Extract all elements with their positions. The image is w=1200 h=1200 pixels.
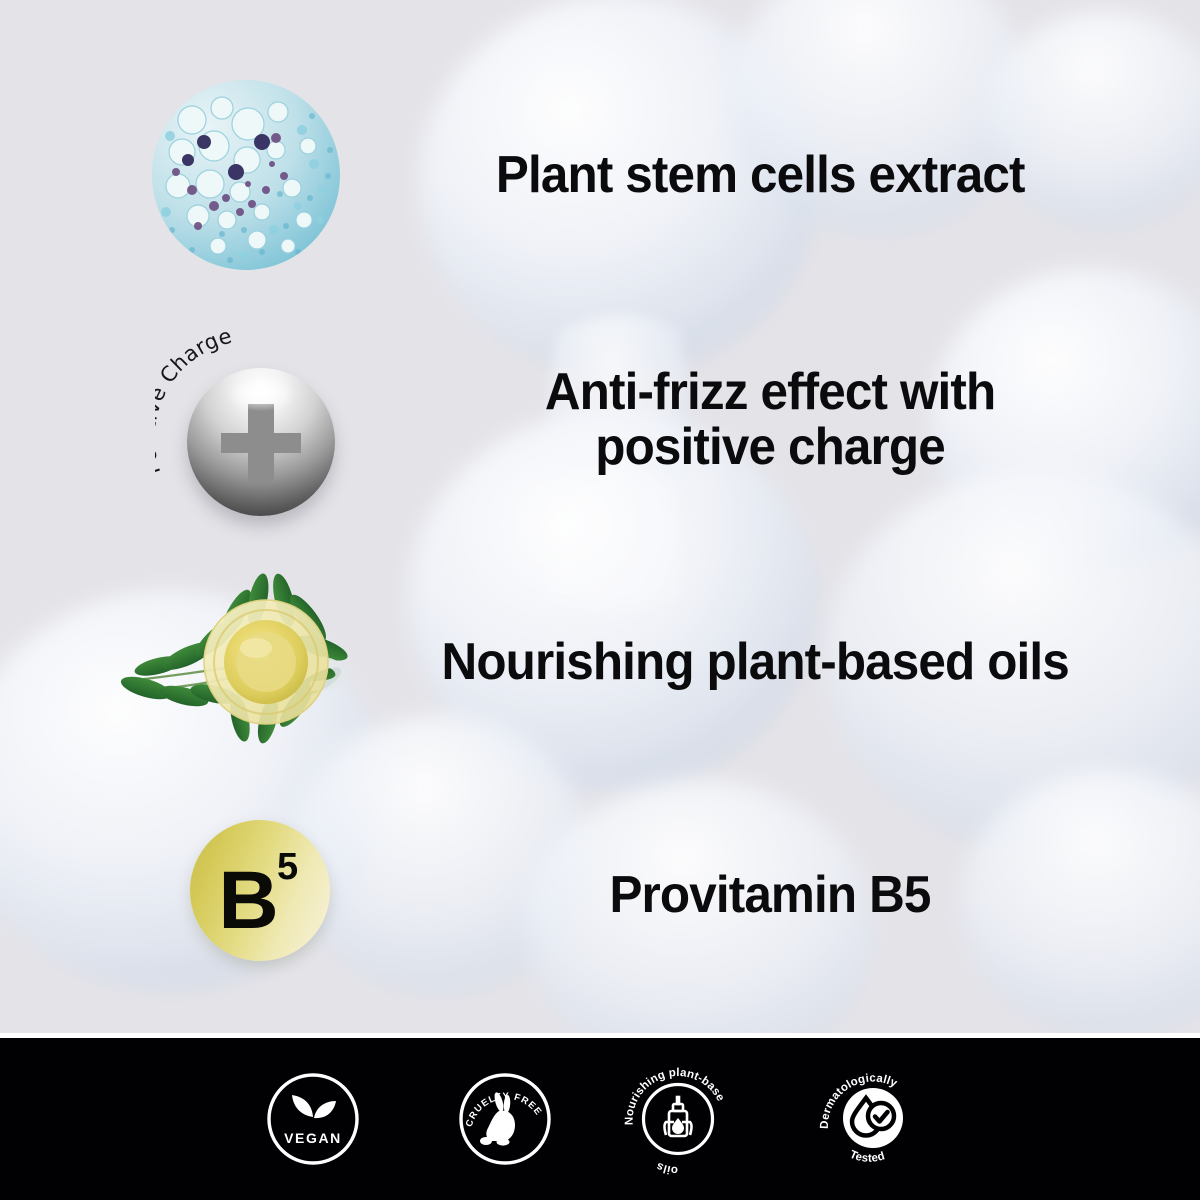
feature-label-anti-frizz: Anti-frizz effect with positive charge [545,365,995,473]
infographic-canvas: Plant stem cells extract Positive Charge… [0,0,1200,1200]
badge-vegan-label: VEGAN [284,1130,342,1146]
feature-row-anti-frizz: Positive Charge Anti-frizz effect with p… [0,312,1200,527]
svg-text:oils: oils [655,1160,679,1175]
feature-text-slot: Nourishing plant-based oils [370,570,1140,755]
badge-dermatologically-tested: Dermatologically Tested [818,1064,928,1174]
oil-pitcher-with-leaves-icon [118,570,368,765]
provitamin-b5-coin-icon: B 5 [190,820,330,961]
feature-text-slot: Anti-frizz effect with positive charge [400,312,1140,527]
badge-nourishing-plant-based-oils: Nourishing plant-base oils [622,1063,734,1175]
b5-letter: B [218,868,276,934]
feature-label-plant-stem-cells: Plant stem cells extract [496,148,1025,202]
feature-label-plant-based-oils: Nourishing plant-based oils [441,635,1068,689]
plus-icon [187,368,335,516]
feature-text-slot: Provitamin B5 [400,805,1140,985]
feature-text-slot: Plant stem cells extract [380,80,1140,270]
badge-derm-label-bottom: Tested [848,1149,887,1165]
positive-charge-sphere-icon: Positive Charge [155,318,355,533]
b5-superscript: 5 [277,848,298,886]
charge-sphere-body [187,368,335,516]
badge-cruelty-free: CRUELTY FREE [455,1069,555,1169]
feature-row-provitamin-b5: B 5 Provitamin B5 [0,805,1200,985]
feature-row-plant-based-oils: Nourishing plant-based oils [0,570,1200,755]
certification-badge-bar: VEGAN CRUELTY FREE [0,1038,1200,1200]
svg-text:Tested: Tested [848,1149,887,1165]
badge-oils-label-bottom: oils [655,1160,679,1175]
feature-row-plant-stem-cells: Plant stem cells extract [0,80,1200,270]
feature-label-provitamin-b5: Provitamin B5 [609,868,930,922]
badge-vegan: VEGAN [263,1069,363,1169]
plant-stem-cells-micrograph-icon [152,80,340,270]
